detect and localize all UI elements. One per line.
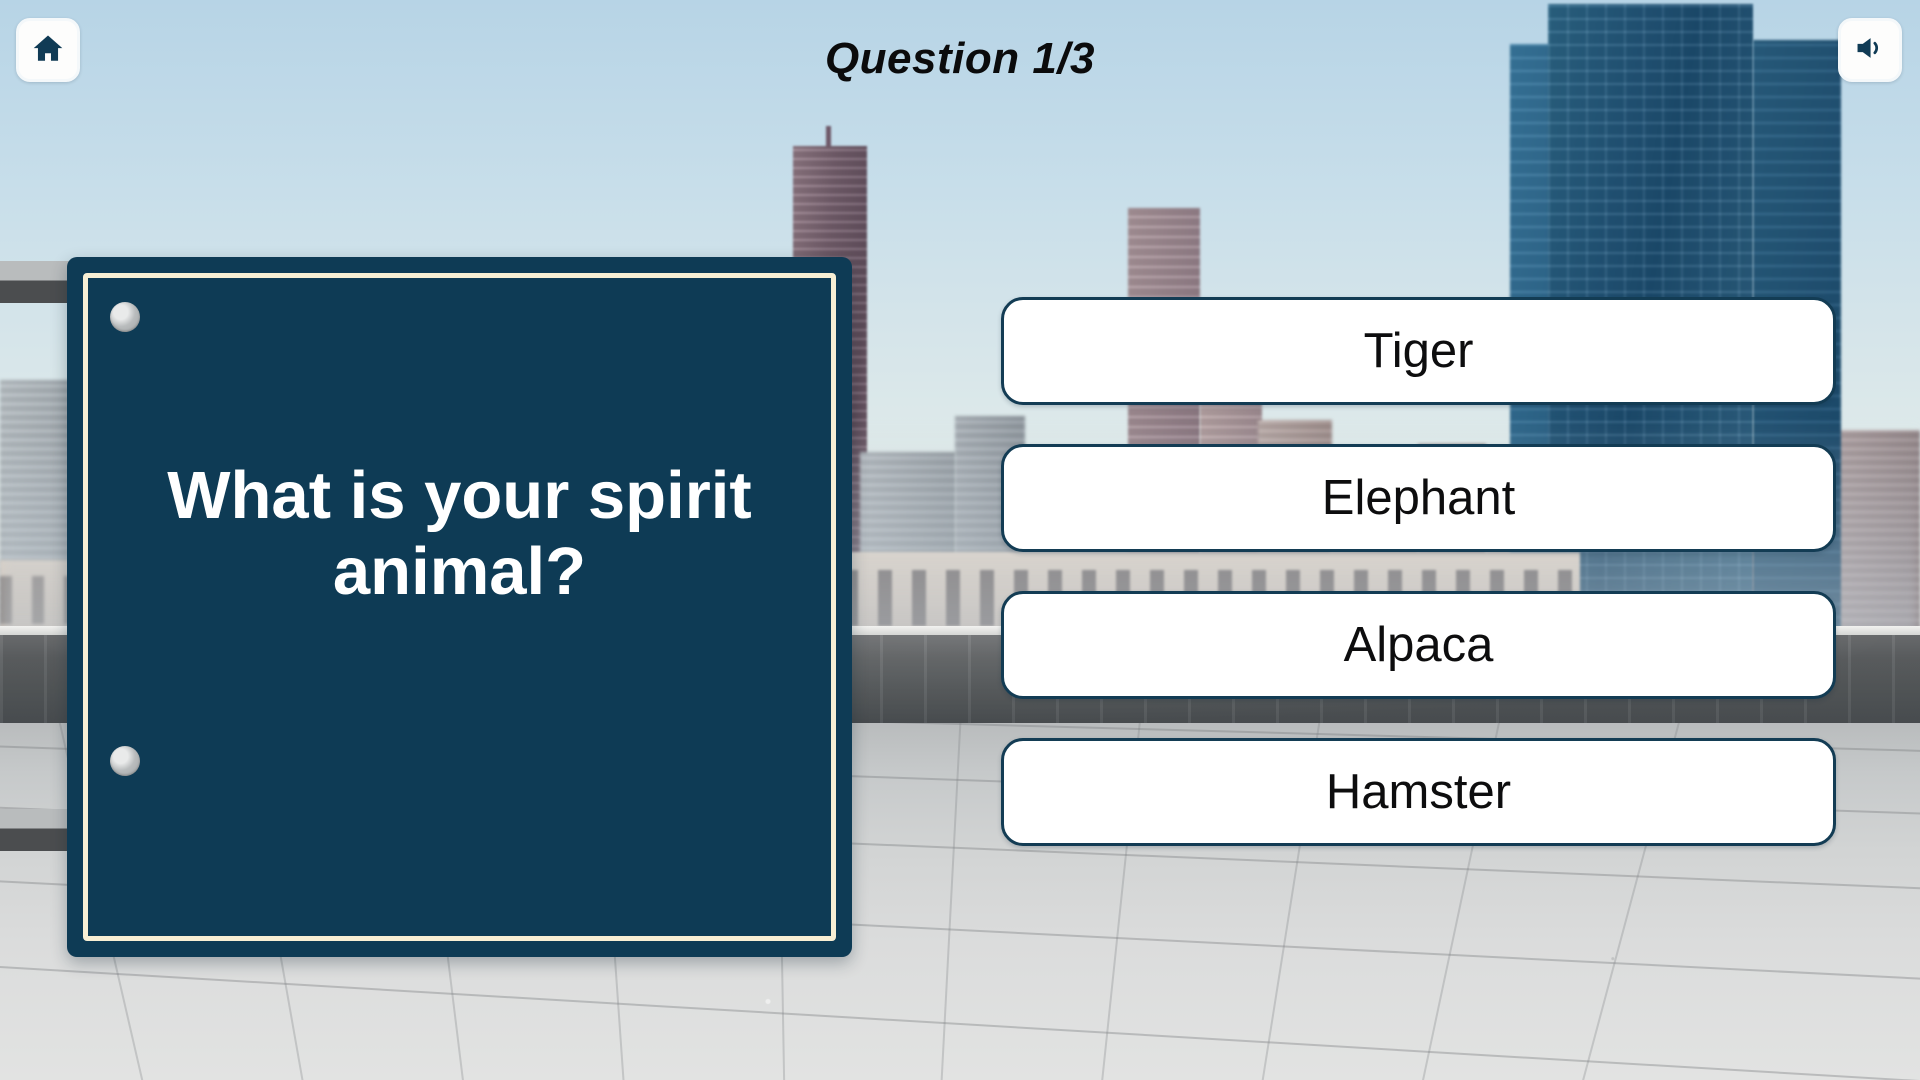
answer-option-2[interactable]: Elephant	[1001, 444, 1836, 552]
question-text: What is your spirit animal?	[88, 458, 831, 611]
question-card-inner-border: What is your spirit animal?	[83, 273, 836, 941]
page-title: Question 1/3	[0, 34, 1920, 84]
question-card: What is your spirit animal?	[67, 257, 852, 957]
answer-option-4[interactable]: Hamster	[1001, 738, 1836, 846]
answer-option-1[interactable]: Tiger	[1001, 297, 1836, 405]
answer-options-list: Tiger Elephant Alpaca Hamster	[1001, 297, 1836, 846]
card-rivet-top-left	[110, 302, 140, 332]
answer-option-3[interactable]: Alpaca	[1001, 591, 1836, 699]
card-rivet-bottom-left	[110, 746, 140, 776]
